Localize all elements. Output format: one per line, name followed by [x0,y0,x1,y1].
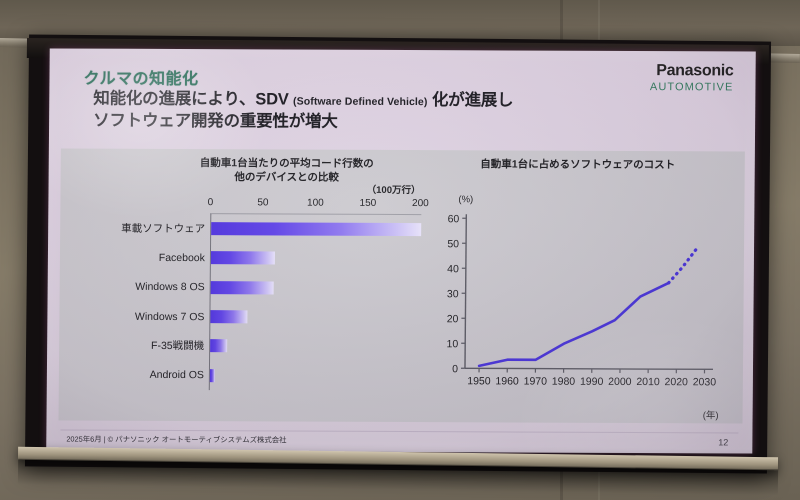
slide-footer: 2025年6月 | © パナソニック オートモーティブシステムズ株式会社 [66,434,286,446]
line-chart-ytick-label: 30 [447,288,459,300]
line-chart-xtick-label: 1960 [495,375,519,387]
bar-chart: （100万行） 050100150200 車載ソフトウェアFacebookWin… [151,197,421,398]
line-chart-ytick-label: 20 [447,313,459,325]
charts-panel: 自動車1台当たりの平均コード行数の 他のデバイスとの比較 （100万行） 050… [59,149,745,424]
bar-chart-bar [210,339,227,352]
bar-chart-row: Windows 7 OS [210,302,420,332]
bar-chart-row: Windows 8 OS [211,273,421,303]
bar-chart-row: Facebook [211,243,421,273]
line-chart-ytick-label: 60 [448,213,460,225]
line-chart-x-unit: (年) [703,407,719,421]
line-chart-xtick-label: 1970 [524,376,548,388]
presentation-slide: クルマの知能化 Panasonic AUTOMOTIVE 知能化の進展により、S… [46,48,756,453]
slide-title: クルマの知能化 [83,65,198,90]
bar-chart-category-label: Android OS [150,369,204,381]
bar-chart-unit-label: （100万行） [367,182,421,196]
bar-chart-xtick: 100 [307,198,324,209]
subtitle-sdv-expansion: (Software Defined Vehicle) [293,96,428,109]
bar-chart-bar [211,281,274,294]
screenshot-stage: クルマの知能化 Panasonic AUTOMOTIVE 知能化の進展により、S… [0,0,800,500]
subtitle-line-2: ソフトウェア開発の重要性が増大 [93,111,338,130]
bar-chart-row: 車載ソフトウェア [211,214,421,244]
bar-chart-category-label: F-35戦闘機 [151,338,204,353]
line-chart-xtick-label: 1980 [552,376,576,388]
line-chart: (%) (年) 01020304050601950196019701980199… [431,196,723,407]
bar-chart-xtick: 0 [208,197,214,208]
line-chart-xtick-label: 1990 [580,376,604,388]
bar-chart-bar [210,310,247,323]
line-chart-ytick-label: 0 [452,363,458,375]
footer-divider [60,430,738,434]
bar-chart-row: F-35戦闘機 [210,331,420,361]
bar-chart-category-label: Windows 7 OS [135,310,205,322]
line-chart-y-axis [465,214,466,368]
bar-chart-category-label: Windows 8 OS [135,281,205,293]
bar-chart-title-line1: 自動車1台当たりの平均コード行数の [153,157,421,172]
line-chart-xtick-label: 1950 [467,375,491,387]
bar-chart-category-label: 車載ソフトウェア [121,221,205,236]
bar-chart-xtick: 200 [412,198,429,209]
slide-subtitle: 知能化の進展により、SDV (Software Defined Vehicle)… [93,89,653,135]
panasonic-logo: Panasonic AUTOMOTIVE [650,63,734,94]
bar-chart-bar [211,222,421,236]
line-chart-xtick-label: 2000 [608,376,632,388]
bar-chart-bar [210,369,215,382]
bar-chart-category-label: Facebook [159,252,205,264]
subtitle-part-1: 知能化の進展により、SDV [93,90,293,109]
line-chart-ytick-label: 10 [446,338,458,350]
line-chart-xtick-label: 2030 [693,376,717,388]
line-chart-xtick-label: 2020 [664,376,688,388]
line-chart-ytick-label: 50 [447,238,459,250]
bar-chart-bar [211,252,275,265]
bar-chart-xtick: 50 [257,197,268,208]
brand-name: Panasonic [650,63,734,80]
line-chart-series-dotted [669,248,697,283]
line-chart-y-unit: (%) [458,194,473,205]
slide-page-number: 12 [718,437,728,447]
line-chart-series-solid [479,282,669,367]
subtitle-part-2: 化が進展し [427,91,513,109]
projected-slide-wrapper: クルマの知能化 Panasonic AUTOMOTIVE 知能化の進展により、S… [46,48,756,453]
line-chart-ytick-label: 40 [447,263,459,275]
line-chart-xtick-label: 2010 [636,376,660,388]
line-chart-svg: 0102030405060195019601970198019902000201… [431,196,723,407]
brand-division: AUTOMOTIVE [650,82,734,94]
bar-chart-x-axis: 050100150200 [210,197,420,212]
bar-chart-plot-area: 車載ソフトウェアFacebookWindows 8 OSWindows 7 OS… [209,213,422,391]
bar-chart-xtick: 150 [360,198,377,209]
bar-chart-row: Android OS [210,361,420,391]
line-chart-title: 自動車1台に占めるソフトウェアのコスト [433,158,723,173]
